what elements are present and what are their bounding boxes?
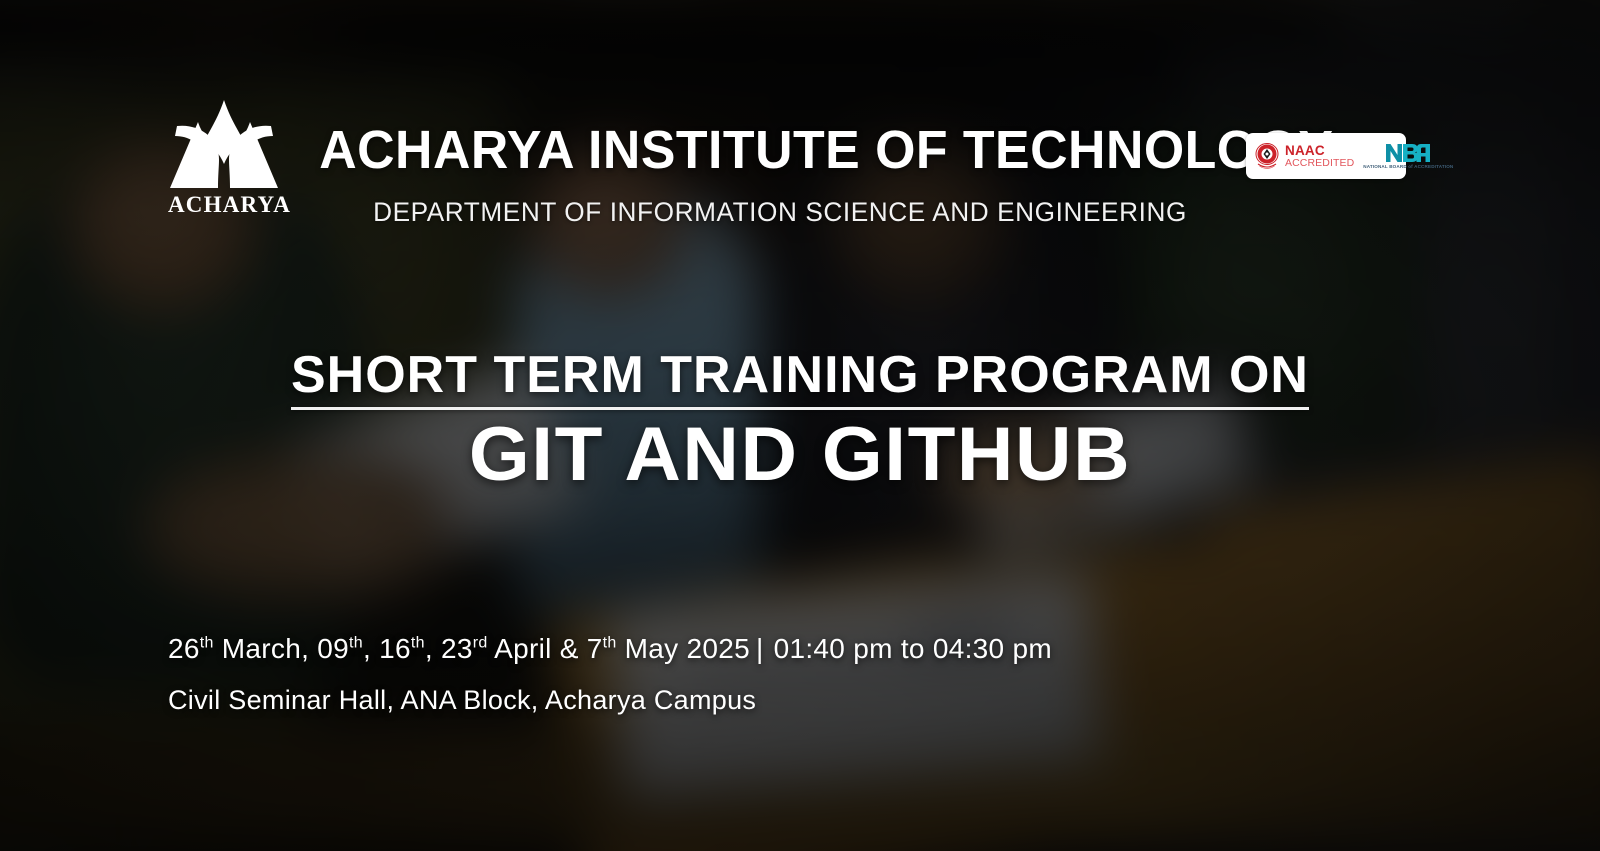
event-eyebrow-wrap: SHORT TERM TRAINING PROGRAM ON	[291, 346, 1309, 404]
event-eyebrow: SHORT TERM TRAINING PROGRAM ON	[291, 346, 1309, 404]
datetime-separator: |	[750, 633, 774, 664]
nba-subtitle: NATIONAL BOARD of ACCREDITATION	[1363, 164, 1453, 169]
date-2-sep: ,	[363, 633, 379, 664]
acharya-emblem-icon	[168, 96, 280, 196]
institution-name: ACHARYA INSTITUTE OF TECHNOLOGY	[319, 122, 1241, 178]
naac-text: NAAC ACCREDITED	[1285, 144, 1354, 169]
date-5-month: May 2025	[617, 633, 750, 664]
naac-group: NAAC ACCREDITED	[1254, 142, 1354, 170]
date-1-month: March,	[214, 633, 318, 664]
date-4-num: 23	[441, 633, 473, 664]
institution-block: ACHARYA INSTITUTE OF TECHNOLOGY DEPARTME…	[300, 122, 1260, 227]
acharya-logo: ACHARYA	[168, 96, 280, 218]
date-4-ordinal: rd	[473, 635, 488, 652]
date-2-ordinal: th	[349, 635, 363, 652]
event-time: 01:40 pm to 04:30 pm	[774, 633, 1052, 664]
nba-logo-icon	[1385, 143, 1431, 163]
date-1-ordinal: th	[200, 635, 214, 652]
date-5-num: 7	[587, 633, 603, 664]
event-details-block: 26th March, 09th, 16th, 23rd April & 7th…	[168, 632, 1052, 716]
date-3-num: 16	[379, 633, 411, 664]
date-1-num: 26	[168, 633, 200, 664]
date-3-sep: ,	[425, 633, 441, 664]
date-4-month: April &	[488, 633, 587, 664]
event-datetime-line: 26th March, 09th, 16th, 23rd April & 7th…	[168, 632, 1052, 666]
event-title: GIT AND GITHUB	[0, 414, 1600, 496]
event-poster: ACHARYA ACHARYA INSTITUTE OF TECHNOLOGY …	[0, 0, 1600, 851]
acharya-logo-wordmark: ACHARYA	[168, 194, 280, 216]
date-5-ordinal: th	[603, 635, 617, 652]
event-venue: Civil Seminar Hall, ANA Block, Acharya C…	[168, 684, 1052, 716]
naac-title: NAAC	[1285, 144, 1354, 158]
headline-underline	[291, 407, 1309, 410]
department-name: DEPARTMENT OF INFORMATION SCIENCE AND EN…	[314, 197, 1245, 227]
nba-group: NATIONAL BOARD of ACCREDITATION	[1363, 143, 1453, 169]
poster-content: ACHARYA ACHARYA INSTITUTE OF TECHNOLOGY …	[0, 0, 1600, 851]
naac-seal-icon	[1254, 142, 1280, 170]
date-2-num: 09	[317, 633, 349, 664]
date-3-ordinal: th	[411, 635, 425, 652]
event-headline-block: SHORT TERM TRAINING PROGRAM ON GIT AND G…	[0, 346, 1600, 496]
accreditation-badge: NAAC ACCREDITED NATIONAL BOARD of ACCRED…	[1246, 133, 1406, 179]
naac-subtitle: ACCREDITED	[1285, 158, 1354, 169]
